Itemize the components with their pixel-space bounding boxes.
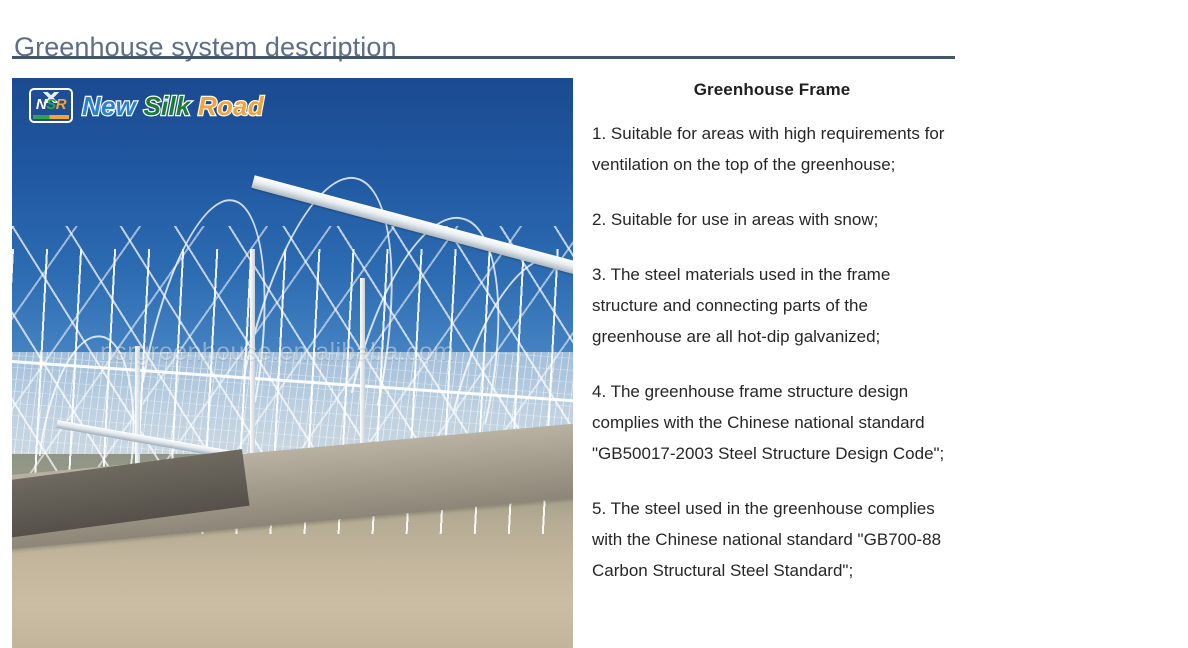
new-silk-road-logo: NSR New Silk Road bbox=[29, 88, 264, 123]
photo-scene bbox=[12, 78, 573, 648]
page-root: Greenhouse system description bbox=[0, 0, 1188, 648]
page-title: Greenhouse system description bbox=[14, 31, 397, 64]
content-area: nsrgreenhouse.en.alibaba.com NSR New Sil… bbox=[0, 78, 1188, 648]
nsr-letter-s: S bbox=[46, 96, 56, 113]
spec-item-1: 1. Suitable for areas with high requirem… bbox=[592, 118, 952, 180]
greenhouse-photo: nsrgreenhouse.en.alibaba.com NSR New Sil… bbox=[12, 78, 573, 648]
nsr-monogram: NSR bbox=[31, 97, 71, 113]
spec-item-2: 2. Suitable for use in areas with snow; bbox=[592, 204, 952, 235]
logo-word-road: Road bbox=[198, 91, 264, 121]
spec-item-3: 3. The steel materials used in the frame… bbox=[592, 259, 952, 352]
nsr-letter-n: N bbox=[36, 96, 46, 113]
spec-text-column: Greenhouse Frame 1. Suitable for areas w… bbox=[592, 78, 952, 586]
nsr-badge-icon: NSR bbox=[29, 88, 73, 123]
spec-heading: Greenhouse Frame bbox=[592, 78, 952, 102]
logo-wordmark: New Silk Road bbox=[82, 92, 264, 120]
spec-item-4: 4. The greenhouse frame structure design… bbox=[592, 376, 952, 469]
badge-stripe bbox=[33, 115, 69, 119]
nsr-letter-r: R bbox=[56, 96, 66, 113]
logo-word-silk: Silk bbox=[144, 91, 191, 121]
title-divider bbox=[12, 56, 955, 59]
logo-word-new: New bbox=[82, 91, 136, 121]
spec-item-5: 5. The steel used in the greenhouse comp… bbox=[592, 493, 952, 586]
